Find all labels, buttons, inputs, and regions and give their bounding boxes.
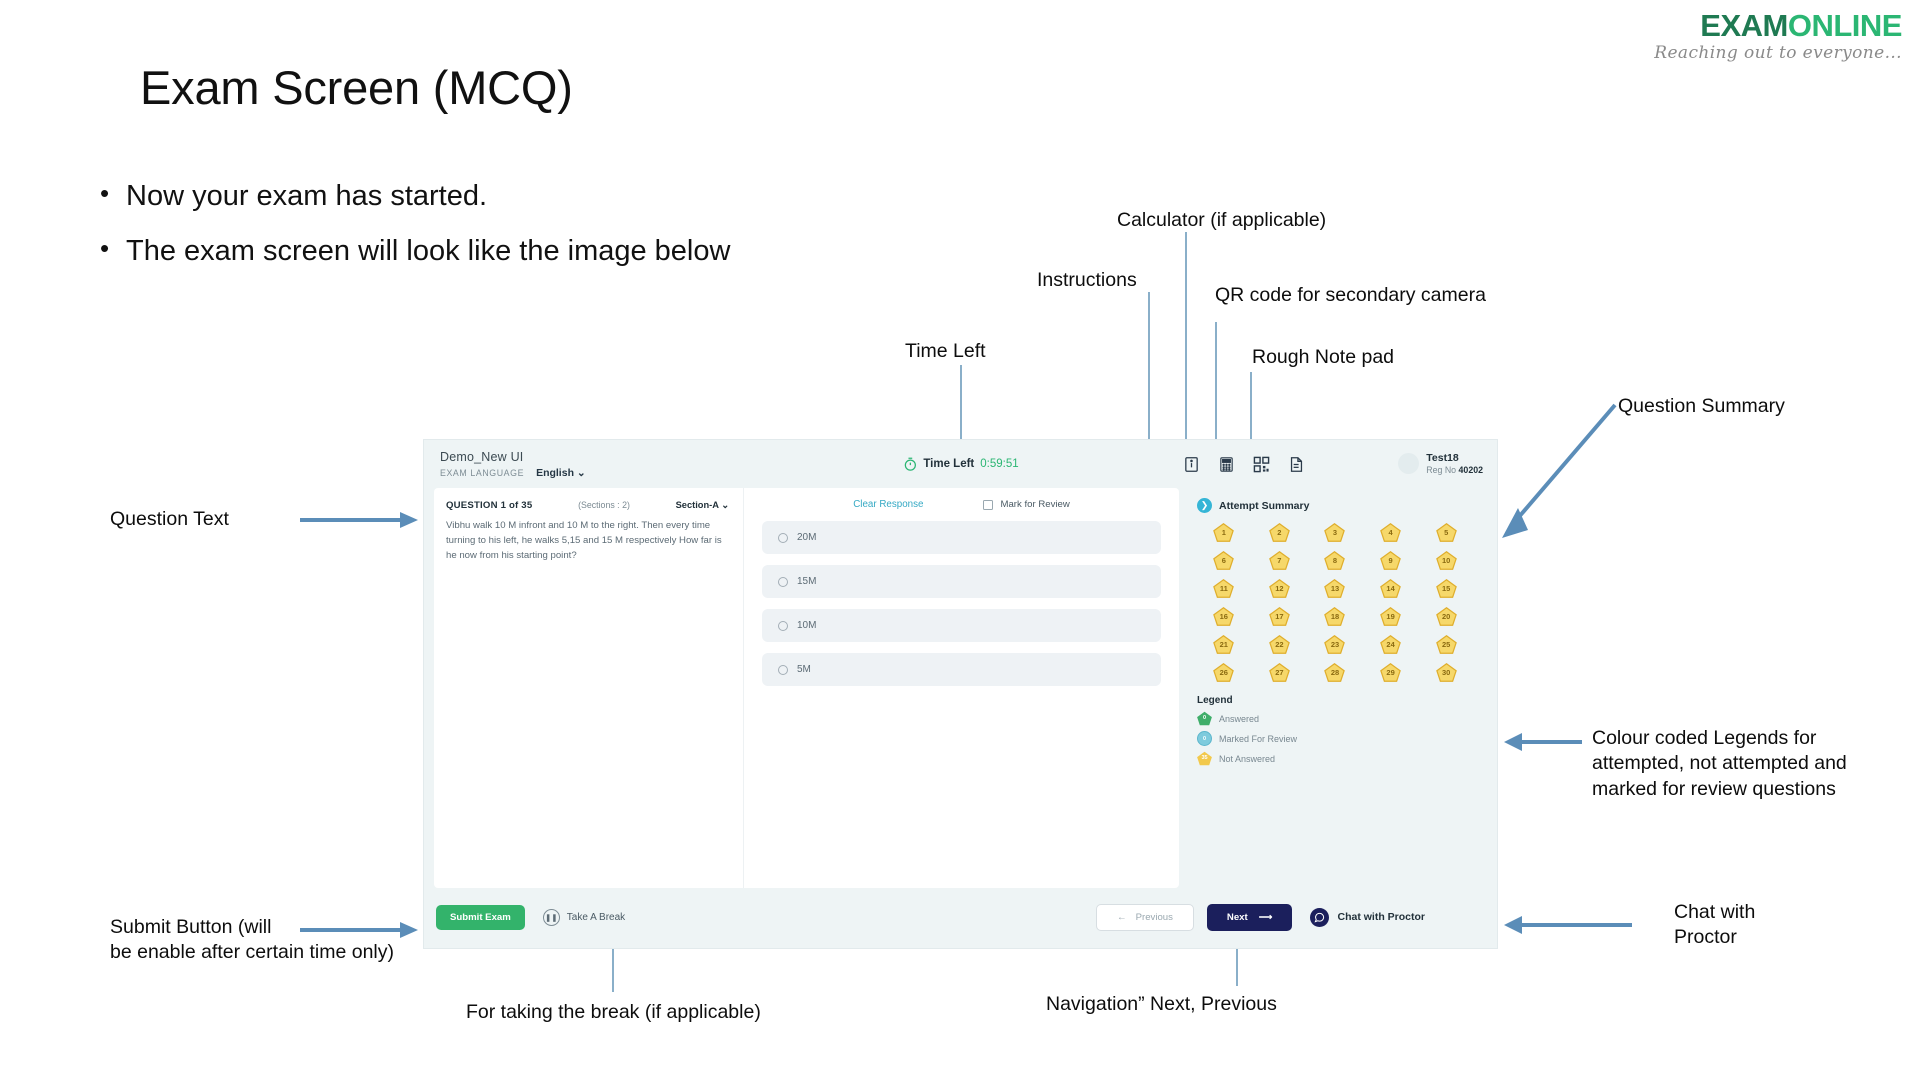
- logo-tagline: Reaching out to everyone...: [1654, 43, 1902, 63]
- next-button[interactable]: Next ⟶: [1207, 904, 1293, 931]
- legend-marker-circle: 0: [1197, 731, 1212, 746]
- page-title: Exam Screen (MCQ): [140, 60, 573, 115]
- question-number-badge[interactable]: 12: [1269, 578, 1290, 599]
- question-number-label: 21: [1213, 634, 1234, 655]
- question-number-badge[interactable]: 30: [1436, 662, 1457, 683]
- take-a-break-label: Take A Break: [567, 912, 625, 923]
- user-info: Test18 Reg No 40202: [1398, 452, 1483, 476]
- legend-item: 0Answered: [1197, 711, 1471, 726]
- exam-screen-mockup: Demo_New UI EXAM LANGUAGE English ⌄ Time…: [424, 440, 1497, 948]
- logo-wordmark: EXAMONLINE: [1654, 10, 1902, 41]
- callout-time-left: Time Left: [905, 339, 986, 364]
- callout-instructions: Instructions: [1037, 268, 1137, 293]
- question-header: QUESTION 1 of 35 (Sections : 2) Section-…: [446, 500, 729, 511]
- question-number-label: 11: [1213, 578, 1234, 599]
- question-number-label: 5: [1436, 522, 1457, 543]
- option-row[interactable]: 10M: [762, 609, 1161, 642]
- question-number-badge[interactable]: 29: [1380, 662, 1401, 683]
- legend-item: 35Not Answered: [1197, 751, 1471, 766]
- question-number-badge[interactable]: 24: [1380, 634, 1401, 655]
- question-number-label: 2: [1269, 522, 1290, 543]
- leader-line-calculator: [1185, 232, 1187, 444]
- question-number-label: 14: [1380, 578, 1401, 599]
- timer: Time Left 0:59:51: [902, 457, 1018, 472]
- question-text: Vibhu walk 10 M infront and 10 M to the …: [446, 519, 729, 564]
- option-label: 10M: [797, 620, 816, 631]
- question-number-badge[interactable]: 9: [1380, 550, 1401, 571]
- arrow-left-icon: ←: [1117, 912, 1127, 923]
- question-number-badge[interactable]: 23: [1324, 634, 1345, 655]
- qr-code-icon[interactable]: [1253, 456, 1270, 473]
- question-number-label: 4: [1380, 522, 1401, 543]
- user-reg: Reg No 40202: [1426, 465, 1483, 476]
- pause-icon: ❚❚: [543, 909, 560, 926]
- examonline-logo: EXAMONLINE Reaching out to everyone...: [1654, 10, 1902, 63]
- question-number-label: 28: [1324, 662, 1345, 683]
- question-number-label: 6: [1213, 550, 1234, 571]
- radio-icon[interactable]: [778, 665, 788, 675]
- question-number-badge[interactable]: 25: [1436, 634, 1457, 655]
- question-number-badge[interactable]: 3: [1324, 522, 1345, 543]
- question-number-label: 26: [1213, 662, 1234, 683]
- question-number-badge[interactable]: 2: [1269, 522, 1290, 543]
- legend-rows: 0Answered0Marked For Review35Not Answere…: [1197, 711, 1471, 766]
- attempt-summary-header: ❯ Attempt Summary: [1197, 498, 1481, 513]
- leader-line-instructions: [1148, 292, 1150, 444]
- answer-toolbar: Clear Response Mark for Review: [762, 499, 1161, 510]
- question-number-badge[interactable]: 27: [1269, 662, 1290, 683]
- question-number-label: 16: [1213, 606, 1234, 627]
- legend-title: Legend: [1197, 695, 1471, 706]
- question-number-badge[interactable]: 26: [1213, 662, 1234, 683]
- callout-navigation: Navigation” Next, Previous: [1046, 992, 1277, 1017]
- exam-title: Demo_New UI: [440, 450, 670, 464]
- legend-marker-pentagon: 0: [1197, 711, 1212, 726]
- question-number-label: 13: [1324, 578, 1345, 599]
- language-selector[interactable]: EXAM LANGUAGE English ⌄: [440, 467, 670, 479]
- exam-body: QUESTION 1 of 35 (Sections : 2) Section-…: [424, 488, 1497, 888]
- question-number-badge[interactable]: 7: [1269, 550, 1290, 571]
- previous-button[interactable]: ← Previous: [1096, 904, 1194, 931]
- sections-info: (Sections : 2): [578, 500, 630, 510]
- previous-label: Previous: [1136, 912, 1173, 923]
- question-number-badge[interactable]: 4: [1380, 522, 1401, 543]
- question-number-label: 30: [1436, 662, 1457, 683]
- arrow-legends: [1504, 730, 1584, 754]
- bullet-text: The exam screen will look like the image…: [126, 235, 730, 268]
- bullet-dot: •: [100, 235, 126, 262]
- question-number-label: 23: [1324, 634, 1345, 655]
- list-item: • Now your exam has started.: [100, 180, 1100, 213]
- mark-for-review-toggle[interactable]: Mark for Review: [983, 499, 1069, 510]
- leader-line-timeleft: [960, 365, 962, 447]
- question-number-badge[interactable]: 22: [1269, 634, 1290, 655]
- question-number-label: 7: [1269, 550, 1290, 571]
- question-number-label: 27: [1269, 662, 1290, 683]
- legend-item: 0Marked For Review: [1197, 731, 1471, 746]
- section-selector[interactable]: Section-A ⌄: [676, 500, 729, 511]
- callout-question-text: Question Text: [110, 507, 229, 532]
- bullet-text: Now your exam has started.: [126, 180, 487, 213]
- leader-line-note: [1250, 372, 1252, 444]
- submit-exam-button[interactable]: Submit Exam: [436, 905, 525, 930]
- language-value[interactable]: English ⌄: [536, 467, 586, 479]
- question-number-label: 1: [1213, 522, 1234, 543]
- question-number-badge[interactable]: 10: [1436, 550, 1457, 571]
- next-label: Next: [1227, 912, 1248, 923]
- chat-bubble-icon: [1310, 908, 1329, 927]
- note-pad-icon[interactable]: [1288, 456, 1305, 473]
- exam-identity: Demo_New UI EXAM LANGUAGE English ⌄: [440, 450, 670, 479]
- question-number-label: 3: [1324, 522, 1345, 543]
- slide-canvas: EXAMONLINE Reaching out to everyone... E…: [0, 0, 1920, 1080]
- logo-exam-text: EXAM: [1700, 8, 1788, 43]
- question-number-label: 12: [1269, 578, 1290, 599]
- answer-column: Clear Response Mark for Review 20M15M10M…: [744, 488, 1179, 888]
- radio-icon[interactable]: [778, 533, 788, 543]
- arrow-question-text: [300, 508, 420, 532]
- question-number-label: 8: [1324, 550, 1345, 571]
- tool-icon-group: [1183, 456, 1305, 473]
- question-number-label: 18: [1324, 606, 1345, 627]
- exam-footer: Submit Exam ❚❚ Take A Break ← Previous N…: [424, 888, 1497, 946]
- chevron-right-icon[interactable]: ❯: [1197, 498, 1212, 513]
- arrow-chat: [1504, 913, 1634, 937]
- question-number-badge[interactable]: 19: [1380, 606, 1401, 627]
- chat-label: Chat with Proctor: [1337, 911, 1425, 923]
- timer-label: Time Left: [923, 458, 974, 470]
- callout-question-summary: Question Summary: [1618, 394, 1785, 419]
- arrow-submit: [300, 918, 420, 942]
- question-number-badge[interactable]: 18: [1324, 606, 1345, 627]
- options-list: 20M15M10M5M: [762, 521, 1161, 686]
- question-number-label: 20: [1436, 606, 1457, 627]
- legend-marker-pentagon: 35: [1197, 751, 1212, 766]
- callout-rough-note-pad: Rough Note pad: [1252, 345, 1394, 370]
- list-item: • The exam screen will look like the ima…: [100, 235, 1100, 268]
- arrow-question-summary: [1490, 400, 1620, 540]
- navigation-buttons: ← Previous Next ⟶: [1096, 904, 1292, 931]
- callout-legends: Colour coded Legends for attempted, not …: [1592, 726, 1862, 802]
- timer-value: 0:59:51: [980, 458, 1018, 470]
- calculator-icon[interactable]: [1218, 456, 1235, 473]
- question-number-badge[interactable]: 13: [1324, 578, 1345, 599]
- question-number-label: 17: [1269, 606, 1290, 627]
- bullet-dot: •: [100, 180, 126, 207]
- option-row[interactable]: 5M: [762, 653, 1161, 686]
- question-number-badge[interactable]: 16: [1213, 606, 1234, 627]
- arrow-right-icon: ⟶: [1259, 912, 1273, 923]
- option-row[interactable]: 20M: [762, 521, 1161, 554]
- question-number-label: 22: [1269, 634, 1290, 655]
- question-number-label: 15: [1436, 578, 1457, 599]
- option-label: 20M: [797, 532, 816, 543]
- radio-icon[interactable]: [778, 577, 788, 587]
- language-label: EXAM LANGUAGE: [440, 468, 524, 478]
- callout-chat: Chat with Proctor: [1674, 900, 1794, 951]
- legend-label: Not Answered: [1219, 754, 1275, 764]
- checkbox-icon[interactable]: [983, 500, 993, 510]
- attempt-summary-panel: ❯ Attempt Summary 1234567891011121314151…: [1187, 488, 1487, 888]
- question-number-badge[interactable]: 5: [1436, 522, 1457, 543]
- legend: Legend 0Answered0Marked For Review35Not …: [1197, 695, 1481, 766]
- question-number-badge[interactable]: 21: [1213, 634, 1234, 655]
- leader-line-qr: [1215, 322, 1217, 444]
- question-number-label: 25: [1436, 634, 1457, 655]
- callout-calculator: Calculator (if applicable): [1117, 208, 1326, 233]
- instructions-icon[interactable]: [1183, 456, 1200, 473]
- question-number-badge[interactable]: 14: [1380, 578, 1401, 599]
- question-number-badge[interactable]: 28: [1324, 662, 1345, 683]
- chat-with-proctor-button[interactable]: Chat with Proctor: [1310, 908, 1425, 927]
- question-number-label: 19: [1380, 606, 1401, 627]
- question-number-label: 10: [1436, 550, 1457, 571]
- clear-response-button[interactable]: Clear Response: [853, 499, 923, 510]
- question-number-badge[interactable]: 11: [1213, 578, 1234, 599]
- option-label: 5M: [797, 664, 811, 675]
- mark-for-review-label: Mark for Review: [1000, 499, 1069, 510]
- stopwatch-icon: [902, 457, 917, 472]
- question-number-label: 9: [1380, 550, 1401, 571]
- question-number-label: 29: [1380, 662, 1401, 683]
- user-name: Test18: [1426, 452, 1483, 465]
- question-answer-panel: QUESTION 1 of 35 (Sections : 2) Section-…: [434, 488, 1179, 888]
- exam-header: Demo_New UI EXAM LANGUAGE English ⌄ Time…: [424, 440, 1497, 488]
- legend-label: Answered: [1219, 714, 1259, 724]
- question-number-grid: 1234567891011121314151617181920212223242…: [1197, 522, 1481, 683]
- question-counter: QUESTION 1 of 35: [446, 500, 532, 511]
- question-column: QUESTION 1 of 35 (Sections : 2) Section-…: [434, 488, 744, 888]
- take-a-break-button[interactable]: ❚❚ Take A Break: [543, 909, 625, 926]
- radio-icon[interactable]: [778, 621, 788, 631]
- attempt-summary-title: Attempt Summary: [1219, 500, 1309, 512]
- question-number-badge[interactable]: 17: [1269, 606, 1290, 627]
- option-row[interactable]: 15M: [762, 565, 1161, 598]
- question-number-badge[interactable]: 20: [1436, 606, 1457, 627]
- question-number-badge[interactable]: 6: [1213, 550, 1234, 571]
- option-label: 15M: [797, 576, 816, 587]
- callout-qr-code: QR code for secondary camera: [1215, 283, 1486, 308]
- question-number-badge[interactable]: 15: [1436, 578, 1457, 599]
- legend-label: Marked For Review: [1219, 734, 1297, 744]
- avatar: [1398, 453, 1419, 474]
- logo-online-text: ONLINE: [1788, 8, 1902, 43]
- question-number-badge[interactable]: 8: [1324, 550, 1345, 571]
- question-number-label: 24: [1380, 634, 1401, 655]
- question-number-badge[interactable]: 1: [1213, 522, 1234, 543]
- bullet-list: • Now your exam has started. • The exam …: [100, 180, 1100, 290]
- callout-break: For taking the break (if applicable): [466, 1000, 761, 1025]
